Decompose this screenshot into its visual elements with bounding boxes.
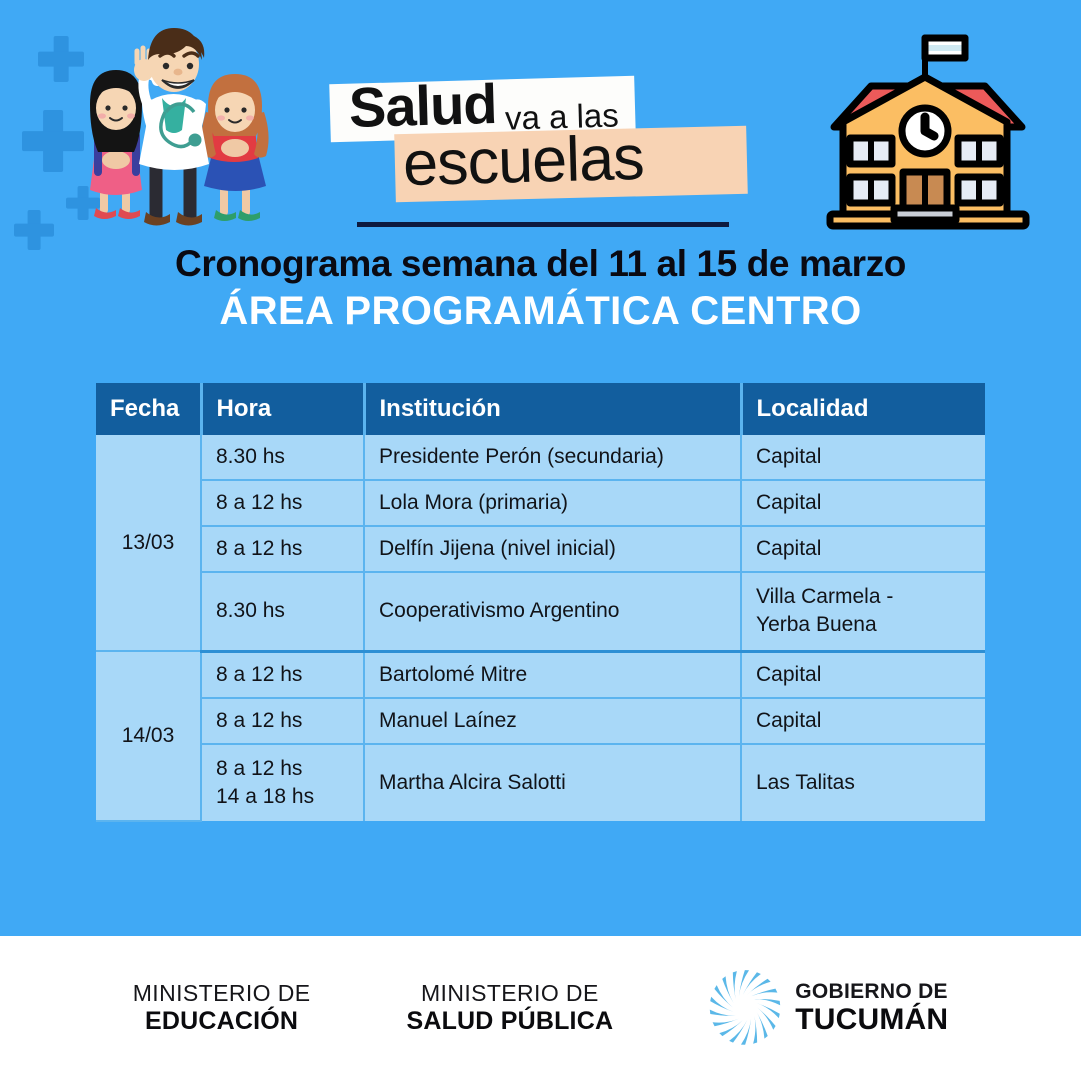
cell-institucion: Manuel Laínez <box>364 698 741 744</box>
cell-fecha: 14/03 <box>96 651 201 821</box>
poster-canvas: Salud va a las escuelas <box>0 0 1081 936</box>
cell-localidad: Capital <box>741 526 985 572</box>
table-header: Fecha Hora Institución Localidad <box>96 383 985 435</box>
table-row: 8 a 12 hs Delfín Jijena (nivel inicial) … <box>96 526 985 572</box>
table-row: 13/03 8.30 hs Presidente Perón (secundar… <box>96 435 985 480</box>
cell-institucion: Bartolomé Mitre <box>364 651 741 698</box>
column-header-localidad: Localidad <box>741 383 985 435</box>
table-body: 13/03 8.30 hs Presidente Perón (secundar… <box>96 435 985 821</box>
educacion-top-label: MINISTERIO DE <box>133 980 311 1007</box>
logo-ministerio-educacion: MINISTERIO DE EDUCACIÓN <box>133 980 311 1036</box>
cell-institucion: Lola Mora (primaria) <box>364 480 741 526</box>
cell-institucion: Cooperativismo Argentino <box>364 572 741 651</box>
column-header-hora: Hora <box>201 383 364 435</box>
poster: Salud va a las escuelas <box>0 0 1081 1080</box>
page-title: ÁREA PROGRAMÁTICA CENTRO <box>0 289 1081 333</box>
cell-localidad: Capital <box>741 651 985 698</box>
cell-localidad: Villa Carmela - Yerba Buena <box>741 572 985 651</box>
logo-ministerio-salud-publica: MINISTERIO DE SALUD PÚBLICA <box>406 980 613 1036</box>
cell-institucion: Delfín Jijena (nivel inicial) <box>364 526 741 572</box>
cell-fecha: 13/03 <box>96 435 201 651</box>
cell-hora: 8 a 12 hs <box>201 651 364 698</box>
heading-block: Cronograma semana del 11 al 15 de marzo … <box>0 244 1081 333</box>
cell-institucion: Martha Alcira Salotti <box>364 744 741 822</box>
salud-bottom-label: SALUD PÚBLICA <box>406 1007 613 1036</box>
schedule-table: Fecha Hora Institución Localidad 13/03 8… <box>96 383 985 822</box>
gobierno-top-label: GOBIERNO DE <box>795 980 948 1003</box>
doctor-and-children-illustration <box>38 8 308 240</box>
column-header-institucion: Institución <box>364 383 741 435</box>
brand-divider <box>357 222 729 227</box>
logo-gobierno-tucuman: GOBIERNO DE TUCUMÁN <box>709 970 948 1046</box>
cell-localidad: Capital <box>741 698 985 744</box>
brand-word-escuelas: escuelas <box>402 125 644 197</box>
cell-localidad: Capital <box>741 435 985 480</box>
brand-lockup: Salud va a las escuelas <box>325 72 755 232</box>
table-row: 8 a 12 hs Manuel Laínez Capital <box>96 698 985 744</box>
column-header-fecha: Fecha <box>96 383 201 435</box>
table-header-row: Fecha Hora Institución Localidad <box>96 383 985 435</box>
cell-hora: 8 a 12 hs <box>201 480 364 526</box>
cell-hora: 8 a 12 hs <box>201 698 364 744</box>
page-subtitle: Cronograma semana del 11 al 15 de marzo <box>0 244 1081 285</box>
salud-top-label: MINISTERIO DE <box>406 980 613 1007</box>
cell-localidad: Las Talitas <box>741 744 985 822</box>
footer: MINISTERIO DE EDUCACIÓN MINISTERIO DE SA… <box>0 936 1081 1080</box>
cell-hora: 8.30 hs <box>201 435 364 480</box>
cell-localidad: Capital <box>741 480 985 526</box>
cell-hora: 8.30 hs <box>201 572 364 651</box>
gobierno-bottom-label: TUCUMÁN <box>795 1003 948 1036</box>
cell-hora: 8 a 12 hs <box>201 526 364 572</box>
table-row: 8.30 hs Cooperativismo Argentino Villa C… <box>96 572 985 651</box>
cell-hora: 8 a 12 hs 14 a 18 hs <box>201 744 364 822</box>
cell-institucion: Presidente Perón (secundaria) <box>364 435 741 480</box>
school-building-icon <box>808 22 1048 240</box>
table-row: 8 a 12 hs 14 a 18 hs Martha Alcira Salot… <box>96 744 985 822</box>
table-row: 14/03 8 a 12 hs Bartolomé Mitre Capital <box>96 651 985 698</box>
table-row: 8 a 12 hs Lola Mora (primaria) Capital <box>96 480 985 526</box>
tucuman-pinwheel-icon <box>709 970 781 1046</box>
educacion-bottom-label: EDUCACIÓN <box>133 1007 311 1036</box>
